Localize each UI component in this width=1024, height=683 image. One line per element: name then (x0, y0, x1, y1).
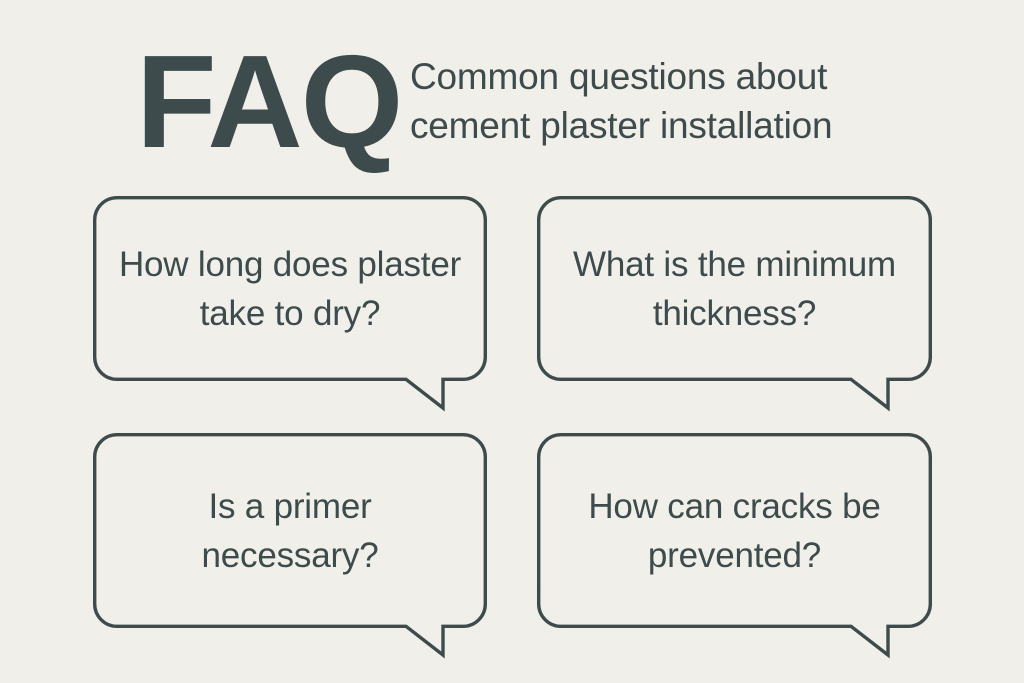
faq-question-3: Is a primer necessary? (93, 433, 487, 628)
faq-bubble-grid: How long does plaster take to dry? What … (0, 0, 1024, 683)
faq-question-4: How can cracks be prevented? (537, 433, 932, 628)
faq-question-2: What is the minimum thickness? (537, 196, 932, 381)
faq-bubble-2: What is the minimum thickness? (537, 196, 932, 381)
faq-question-1: How long does plaster take to dry? (93, 196, 487, 381)
faq-graphic: FAQ Common questions about cement plaste… (0, 0, 1024, 683)
faq-bubble-1: How long does plaster take to dry? (93, 196, 487, 381)
faq-bubble-3: Is a primer necessary? (93, 433, 487, 628)
faq-bubble-4: How can cracks be prevented? (537, 433, 932, 628)
